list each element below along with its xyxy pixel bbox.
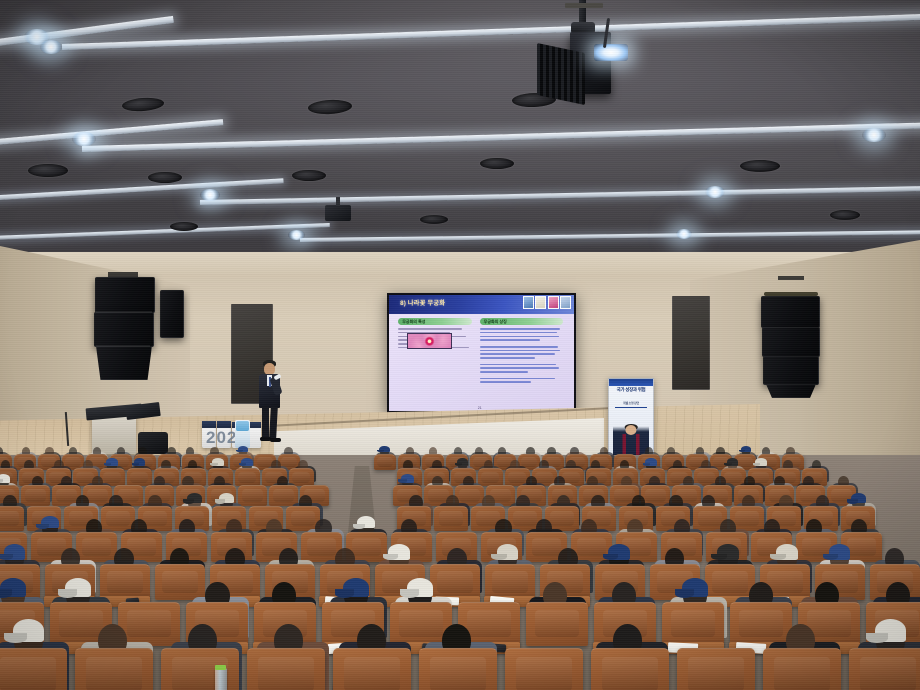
auditorium-seat[interactable] [76,532,117,562]
speaker-cabinet [766,384,816,398]
presenter-leg [262,406,269,438]
ceiling-lamp [862,128,886,142]
projector-assembly [527,0,652,120]
speaker-cabinet [761,296,820,328]
audience-member-cap-brim [183,499,193,504]
slide-thumbnail [523,296,534,309]
slide-right-heading-badge: 무궁화의 상징 [480,318,563,325]
slide-thumbnail [535,296,546,309]
ceiling-lamp [705,186,725,198]
ceiling-lamp [200,189,220,201]
auditorium-seat[interactable] [505,648,583,690]
audience-member-cap-brim [4,633,27,643]
projector-lens [594,44,628,61]
auditorium-seat[interactable] [662,602,724,646]
slide-thumbnail-strip [523,296,571,309]
auditorium-seat[interactable] [849,648,920,690]
audience-member-cap-brim [398,479,407,483]
slide-page-number: 21 [478,406,482,410]
slide-right-heading: 무궁화의 상징 [484,319,507,325]
auditorium-photo: 8) 나라꽃 무궁화 무궁화의 특성 [0,0,920,690]
slide-left-heading-badge: 무궁화의 특성 [398,318,472,325]
ceiling-camera [325,205,351,221]
audience-member-cap-brim [675,589,694,597]
ceiling-lamp [676,229,692,239]
auditorium-seat[interactable] [247,648,325,690]
audience-member-cap-brim [58,589,77,597]
ceiling-vent [740,160,780,172]
audience-member-cap-brim [0,589,12,597]
right-speaker-array [760,276,822,396]
audience-member-cap-brim [400,589,419,597]
auditorium-seat[interactable] [333,648,411,690]
auditorium-seat[interactable] [430,564,480,600]
year-letter-top [217,421,231,428]
speaker-seam [96,311,152,313]
auditorium-seat[interactable] [677,648,755,690]
speaker-seam [96,345,150,347]
left-speaker-array [92,272,154,388]
auditorium-seat[interactable] [374,454,396,470]
slide-thumbnail [560,296,571,309]
ceiling-vent [830,210,860,220]
presenter-leg [269,406,278,439]
auditorium-seat[interactable] [434,506,468,531]
speaker-cabinet [763,356,819,385]
auditorium-seat[interactable] [0,648,67,690]
ceiling-vent [480,158,514,169]
banner-divider [615,407,647,408]
ceiling-vent [170,222,198,231]
auditorium-seat[interactable] [127,468,152,486]
rose-of-sharon-photo [408,334,451,347]
bottle-cap [215,665,226,670]
auditorium-seat[interactable] [591,648,669,690]
ceiling-lamp [40,40,62,54]
speaker-cabinet [94,312,154,347]
speaker-cabinet [95,277,155,313]
speaker-cabinet [762,327,820,357]
projector-vent-fins [537,43,585,105]
slide-thumbnail [548,296,559,309]
auditorium-seat[interactable] [730,602,792,646]
audience-member-cap-brim [335,589,354,597]
banner-headline: 국가 성장과 위험 [609,387,653,393]
ceiling-lamp [72,132,96,146]
slide-left-column: 무궁화의 특성 [398,318,472,350]
audience-member-cap-brim [215,499,225,504]
ceiling-vent [28,164,68,177]
banner-top-band [609,379,653,386]
ceiling-vent [148,172,182,183]
auditorium-seat[interactable] [763,648,841,690]
presenter [252,360,286,442]
ceiling-lamp [288,230,305,240]
auditorium-seat[interactable] [100,564,150,600]
auditorium-seat[interactable] [269,485,298,506]
presentation-slide: 8) 나라꽃 무궁화 무궁화의 특성 [389,295,574,411]
speaker-rigging [778,276,804,280]
ceiling-camera-mount [336,197,340,206]
auditorium-seat[interactable] [155,564,205,600]
slide-left-heading: 무궁화의 특성 [402,319,425,325]
auditorium-seat[interactable] [238,485,267,506]
audience-seating [0,452,920,690]
auditorium-seat[interactable] [478,468,503,486]
auditorium-seat[interactable] [419,648,497,690]
water-dispenser-tank [236,421,249,431]
auditorium-seat[interactable] [485,564,535,600]
projector-mount-plate [565,3,603,8]
auditorium-seat[interactable] [118,602,180,646]
auditorium-seat[interactable] [526,602,588,646]
speaker-cabinet [96,346,152,380]
year-letter-top [202,421,216,428]
audience-member-cap-brim [847,499,857,504]
slide-title: 8) 나라꽃 무궁화 [400,298,445,307]
acoustic-panel [672,296,710,390]
slide-flower-image [407,333,452,348]
ceiling-vent [292,170,326,181]
auditorium-seat[interactable] [0,506,24,531]
banner-subline: 특별 초청 강연 [609,401,653,405]
water-bottle[interactable] [215,668,227,690]
slide-right-column: 무궁화의 상징 [480,318,563,385]
auditorium-seat[interactable] [75,648,153,690]
ceiling-vent [420,215,448,224]
auditorium-seat[interactable] [21,485,50,506]
projection-screen-frame: 8) 나라꽃 무궁화 무궁화의 특성 [387,293,576,413]
presenter-shoe [270,438,281,442]
aux-speaker [160,290,184,338]
audience-member-cap-brim [866,633,889,643]
auditorium-seat[interactable] [235,468,260,486]
auditorium-seat[interactable] [705,564,755,600]
auditorium-seat[interactable] [161,648,239,690]
